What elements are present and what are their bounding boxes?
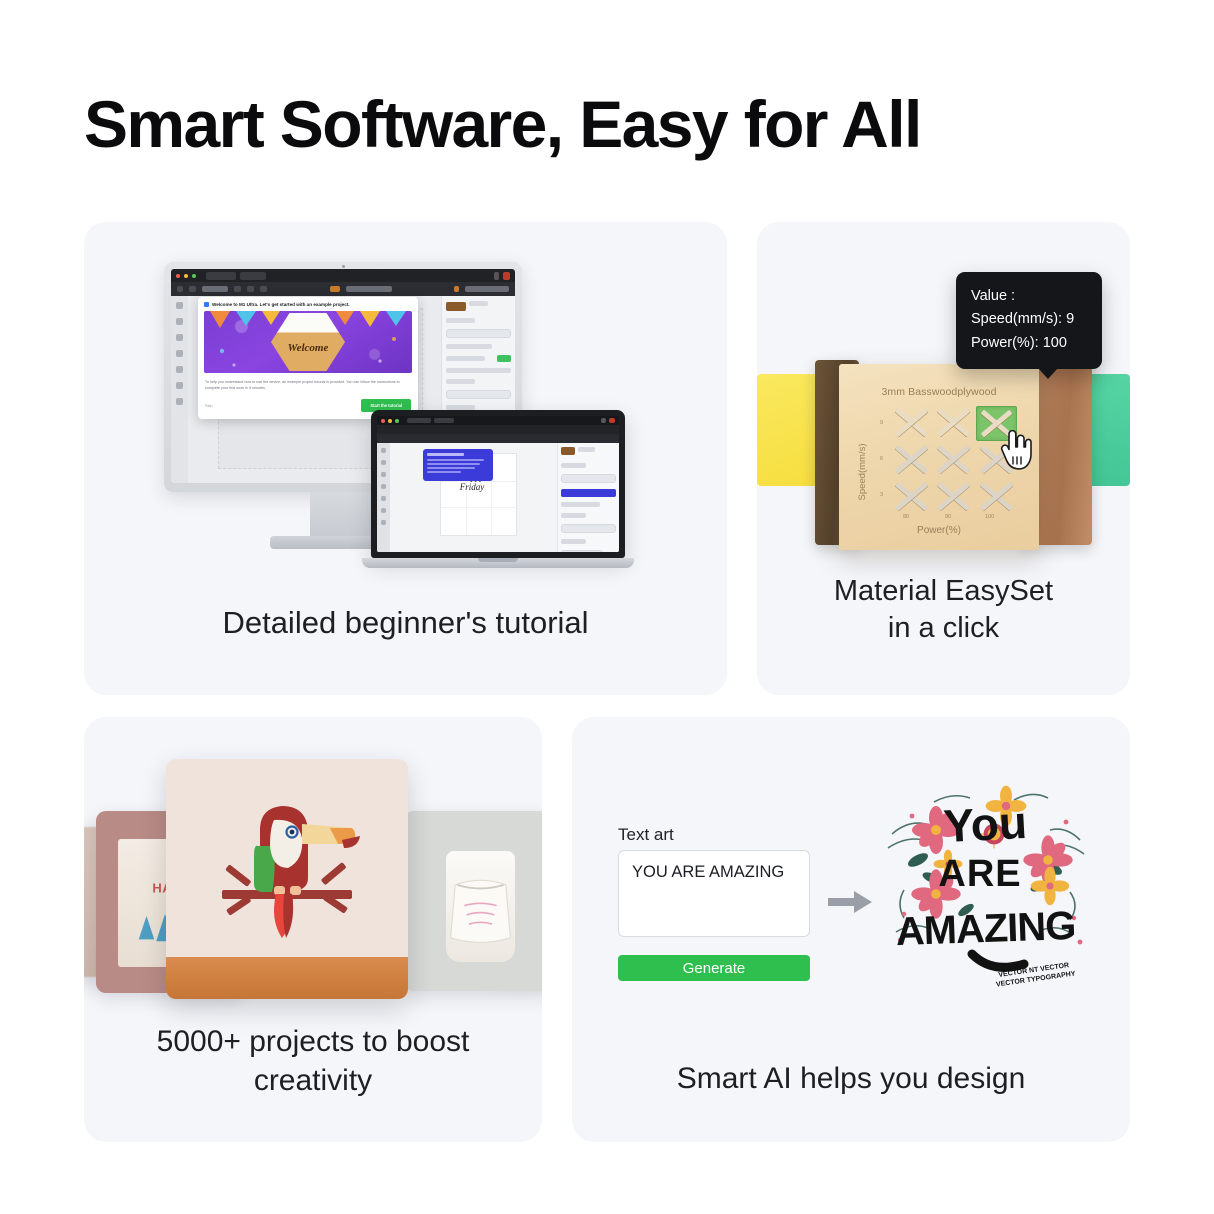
tooltip-line-power: Power(%): 100 bbox=[971, 332, 1087, 355]
frame-tool-icon[interactable] bbox=[381, 508, 386, 513]
tooltip-title-bar bbox=[427, 453, 464, 456]
minimize-icon[interactable] bbox=[388, 419, 392, 423]
hero-text: Welcome bbox=[288, 342, 329, 354]
generated-text-art: You ARE AMAZING VECTOR NT VECTOR VECTOR … bbox=[874, 782, 1099, 997]
laptop-workspace: Happy Friday bbox=[377, 443, 619, 552]
card-caption: Detailed beginner's tutorial bbox=[84, 603, 727, 643]
panel-row bbox=[446, 368, 511, 373]
app-toolbar bbox=[171, 282, 515, 296]
cut-icon[interactable] bbox=[177, 286, 183, 292]
material-selector[interactable] bbox=[561, 474, 616, 483]
connect-button[interactable] bbox=[202, 286, 228, 292]
arrow-right-icon bbox=[826, 889, 874, 915]
notification-icon[interactable] bbox=[503, 272, 510, 280]
pen-tool-icon[interactable] bbox=[176, 350, 183, 357]
y-tick-1: 6 bbox=[880, 456, 883, 462]
pen-tool-icon[interactable] bbox=[381, 484, 386, 489]
marketing-page: Smart Software, Easy for All bbox=[0, 0, 1214, 1214]
image-tool-icon[interactable] bbox=[381, 496, 386, 501]
laptop-app-titlebar bbox=[377, 416, 619, 425]
card-caption: Smart AI helps you design bbox=[572, 1060, 1130, 1098]
maximize-icon[interactable] bbox=[395, 419, 399, 423]
flag-icon bbox=[204, 302, 209, 307]
laptop-tool-rail bbox=[377, 443, 390, 552]
laptop-design-canvas[interactable]: Happy Friday bbox=[390, 443, 557, 552]
toggle-on[interactable] bbox=[497, 355, 511, 362]
art-line-1: You bbox=[942, 796, 1028, 852]
select-tool-icon[interactable] bbox=[381, 448, 386, 453]
close-icon[interactable] bbox=[176, 274, 180, 278]
tab-device[interactable] bbox=[206, 272, 236, 280]
alert-chip bbox=[604, 552, 616, 553]
save-icon[interactable] bbox=[189, 286, 196, 292]
project-photo-right[interactable] bbox=[404, 811, 542, 991]
panel-row bbox=[561, 524, 616, 533]
test-cell[interactable] bbox=[934, 443, 975, 478]
undo-icon[interactable] bbox=[234, 286, 241, 292]
status-text bbox=[465, 286, 509, 292]
project-photo-main-toucan[interactable] bbox=[166, 759, 408, 999]
easyset-illustration: 3mm Basswoodplywood Speed(mm/s) Power(%)… bbox=[757, 222, 1130, 592]
tutorial-illustration: Welcome to M1 Ultra. Let's get started w… bbox=[84, 222, 727, 602]
start-button[interactable] bbox=[446, 390, 511, 399]
gift-bag-icon bbox=[446, 851, 515, 963]
document-name-field[interactable] bbox=[346, 286, 392, 292]
x-tick-2: 100 bbox=[985, 514, 994, 520]
text-tool-icon[interactable] bbox=[381, 460, 386, 465]
laptop-settings-panel bbox=[557, 443, 619, 552]
notification-icon[interactable] bbox=[609, 418, 615, 423]
grid-tool-icon[interactable] bbox=[381, 520, 386, 525]
panel-row bbox=[446, 379, 475, 384]
account-icon[interactable] bbox=[494, 272, 499, 280]
frame-tool-icon[interactable] bbox=[176, 382, 183, 389]
settings-tooltip: Value : Speed(mm/s): 9 Power(%): 100 bbox=[956, 272, 1102, 369]
card-material-easyset: 3mm Basswoodplywood Speed(mm/s) Power(%)… bbox=[757, 222, 1130, 695]
welcome-dialog[interactable]: Welcome to M1 Ultra. Let's get started w… bbox=[198, 297, 418, 419]
surface-status-row bbox=[446, 329, 511, 338]
tool-rail bbox=[171, 296, 188, 483]
laptop-lid: Happy Friday bbox=[371, 410, 625, 558]
laptop-device: Happy Friday bbox=[362, 410, 634, 580]
card-detailed-tutorial: Welcome to M1 Ultra. Let's get started w… bbox=[84, 222, 727, 695]
test-cell[interactable] bbox=[891, 479, 932, 514]
y-tick-0: 9 bbox=[880, 420, 883, 426]
laptop-toolbar-top bbox=[377, 425, 619, 434]
photo-content bbox=[446, 851, 515, 963]
text-tool-icon[interactable] bbox=[176, 318, 183, 325]
tooltip-line-speed: Speed(mm/s): 9 bbox=[971, 308, 1087, 331]
projects-illustration: HAPPY bbox=[84, 749, 542, 1039]
text-art-input[interactable]: YOU ARE AMAZING bbox=[618, 850, 810, 937]
ai-design-illustration: Text art YOU ARE AMAZING Generate bbox=[572, 717, 1130, 1057]
smart-settings-tooltip[interactable] bbox=[423, 449, 493, 481]
test-cell[interactable] bbox=[934, 479, 975, 514]
x-tick-0: 80 bbox=[903, 514, 909, 520]
laptop-screen: Happy Friday bbox=[377, 416, 619, 552]
card-smart-ai-design: Text art YOU ARE AMAZING Generate bbox=[572, 717, 1130, 1142]
art-swash bbox=[972, 954, 1024, 967]
laptop-toolbar-bottom bbox=[377, 434, 619, 443]
art-line-3: AMAZING bbox=[895, 904, 1076, 954]
test-cell[interactable] bbox=[891, 443, 932, 478]
y-tick-2: 3 bbox=[880, 492, 883, 498]
art-line-2: ARE bbox=[938, 853, 1021, 895]
webcam-icon bbox=[342, 265, 345, 268]
generate-button[interactable]: Generate bbox=[618, 955, 810, 981]
card-caption: 5000+ projects to boost creativity bbox=[84, 1023, 542, 1100]
dialog-heading: Welcome to M1 Ultra. Let's get started w… bbox=[212, 302, 350, 307]
dialog-hero-image: Welcome bbox=[204, 311, 412, 373]
card-projects-library: HAPPY bbox=[84, 717, 542, 1142]
tab-project[interactable] bbox=[240, 272, 266, 280]
shape-tool-icon[interactable] bbox=[381, 472, 386, 477]
dialog-skip-link[interactable]: Skip bbox=[205, 403, 213, 408]
device-preview-thumb bbox=[561, 447, 575, 455]
panel-row bbox=[446, 344, 492, 349]
board-title: 3mm Basswoodplywood bbox=[839, 386, 1039, 398]
panel-section-label bbox=[446, 318, 475, 323]
wood-table-surface bbox=[166, 957, 408, 999]
maximize-icon[interactable] bbox=[192, 274, 196, 278]
app-titlebar bbox=[171, 269, 515, 282]
select-tool-icon[interactable] bbox=[176, 302, 183, 309]
image-tool-icon[interactable] bbox=[176, 366, 183, 373]
device-thumbnail bbox=[330, 286, 340, 292]
minimize-icon[interactable] bbox=[184, 274, 188, 278]
tab-device[interactable] bbox=[407, 418, 431, 423]
dialog-heading-row: Welcome to M1 Ultra. Let's get started w… bbox=[198, 297, 418, 311]
warning-icon bbox=[454, 286, 459, 292]
card-caption: Material EasySet in a click bbox=[757, 573, 1130, 647]
tooltip-line-value: Value : bbox=[971, 285, 1087, 308]
board-x-axis-label: Power(%) bbox=[839, 525, 1039, 536]
page-title: Smart Software, Easy for All bbox=[84, 86, 921, 162]
device-preview-thumb bbox=[446, 302, 466, 311]
close-icon[interactable] bbox=[381, 419, 385, 423]
define-background-button[interactable] bbox=[561, 550, 603, 552]
dialog-body: To help you understand how to use the de… bbox=[198, 373, 418, 394]
account-icon[interactable] bbox=[601, 418, 606, 423]
toucan-wood-art-icon bbox=[202, 794, 372, 944]
x-tick-1: 90 bbox=[945, 514, 951, 520]
test-cell[interactable] bbox=[934, 406, 975, 441]
test-cell[interactable] bbox=[891, 406, 932, 441]
laptop-notch bbox=[478, 558, 518, 562]
tooltip-arrow bbox=[1038, 368, 1058, 379]
board-y-axis-label: Speed(mm/s) bbox=[857, 443, 868, 500]
redo-icon[interactable] bbox=[247, 286, 254, 292]
tab-project[interactable] bbox=[434, 418, 454, 423]
settings-icon[interactable] bbox=[260, 286, 267, 292]
grid-tool-icon[interactable] bbox=[176, 398, 183, 405]
apply-smart-settings-button[interactable] bbox=[561, 489, 616, 497]
hand-cursor-icon bbox=[998, 430, 1032, 470]
text-art-label: Text art bbox=[618, 825, 674, 845]
shape-tool-icon[interactable] bbox=[176, 334, 183, 341]
test-cell[interactable] bbox=[976, 479, 1017, 514]
